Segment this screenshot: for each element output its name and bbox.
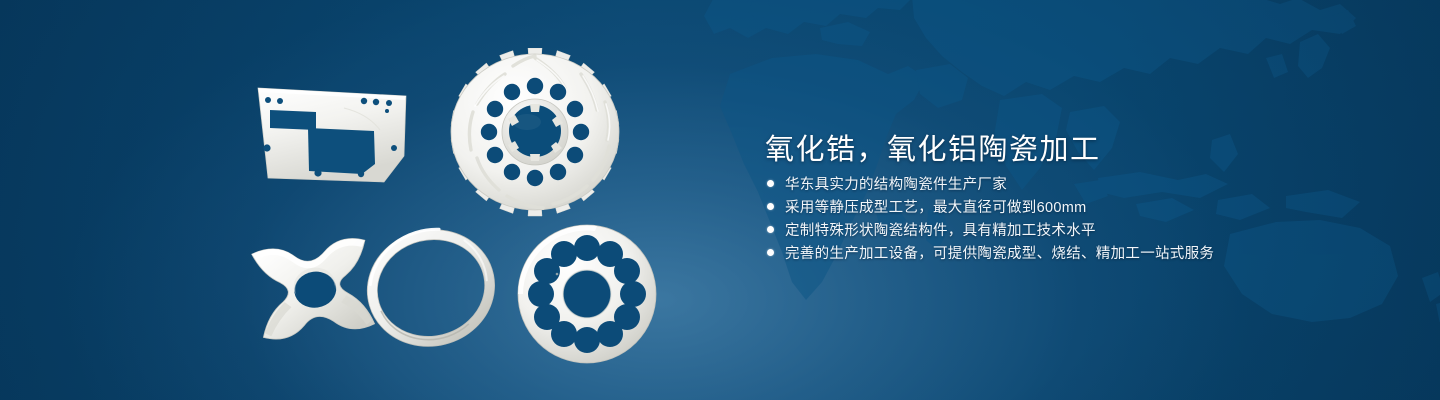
bullet-dot-icon	[767, 180, 774, 187]
product-ceramic-machined-plate	[248, 78, 418, 198]
feature-list: 华东具实力的结构陶瓷件生产厂家 采用等静压成型工艺，最大直径可做到600mm 定…	[767, 172, 1214, 264]
banner-content: 氧化锆，氧化铝陶瓷加工 华东具实力的结构陶瓷件生产厂家 采用等静压成型工艺，最大…	[765, 0, 1405, 400]
product-ceramic-perforated-disc	[515, 222, 660, 367]
product-ceramic-impeller-disc	[445, 48, 625, 218]
bullet-dot-icon	[767, 203, 774, 210]
feature-item-4: 完善的生产加工设备，可提供陶瓷成型、烧结、精加工一站式服务	[767, 241, 1214, 264]
feature-item-1: 华东具实力的结构陶瓷件生产厂家	[767, 172, 1214, 195]
product-ceramic-ring	[345, 222, 510, 357]
feature-item-3: 定制特殊形状陶瓷结构件，具有精加工技术水平	[767, 218, 1214, 241]
banner-headline: 氧化锆，氧化铝陶瓷加工	[765, 132, 1101, 168]
feature-item-2: 采用等静压成型工艺，最大直径可做到600mm	[767, 195, 1214, 218]
bullet-dot-icon	[767, 226, 774, 233]
feature-item-label: 华东具实力的结构陶瓷件生产厂家	[785, 173, 1007, 194]
feature-item-label: 定制特殊形状陶瓷结构件，具有精加工技术水平	[785, 219, 1096, 240]
hero-banner: 氧化锆，氧化铝陶瓷加工 华东具实力的结构陶瓷件生产厂家 采用等静压成型工艺，最大…	[0, 0, 1440, 400]
bullet-dot-icon	[767, 249, 774, 256]
feature-item-label: 完善的生产加工设备，可提供陶瓷成型、烧结、精加工一站式服务	[785, 242, 1214, 263]
product-photo-cluster	[0, 0, 720, 400]
feature-item-label: 采用等静压成型工艺，最大直径可做到600mm	[785, 196, 1086, 217]
